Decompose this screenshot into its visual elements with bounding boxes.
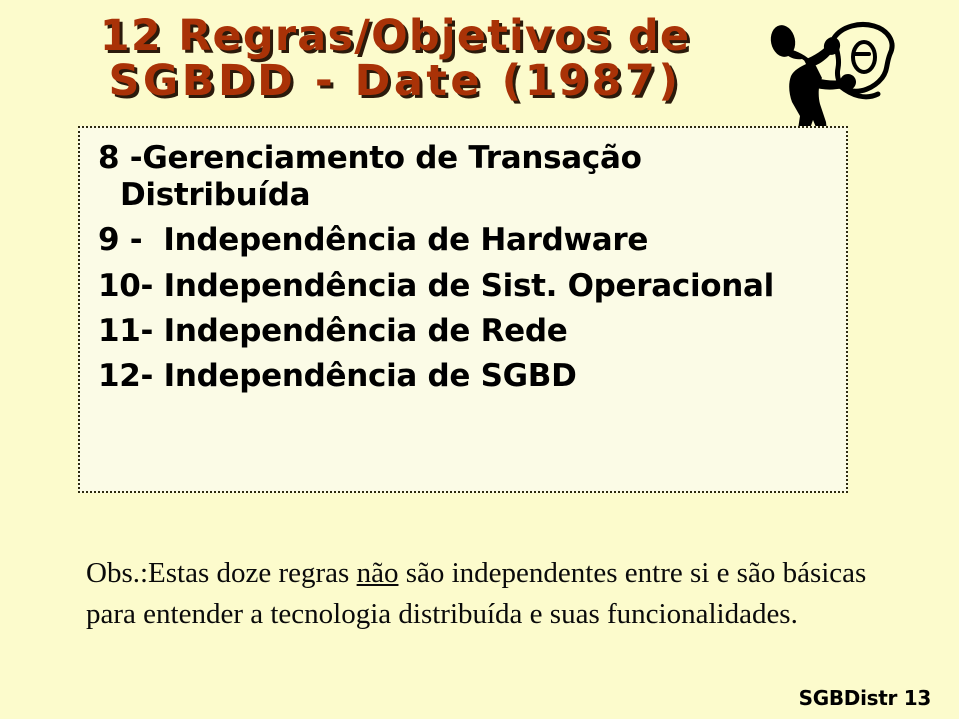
page-title: 12 Regras/Objetivos de SGBDD - Date (198…: [0, 14, 790, 103]
title-line-1: 12 Regras/Objetivos de: [0, 14, 790, 59]
list-item: 11- Independência de Rede: [88, 313, 842, 350]
rules-content-box: 8 -Gerenciamento de TransaçãoDistribuída…: [78, 126, 848, 493]
list-item: 8 -Gerenciamento de TransaçãoDistribuída: [88, 140, 738, 214]
rule-text: Gerenciamento de Transação: [142, 140, 641, 176]
title-line-2: SGBDD - Date (1987): [0, 59, 790, 104]
rules-list: 8 -Gerenciamento de TransaçãoDistribuída…: [88, 140, 842, 395]
observation-emphasis: não: [357, 557, 399, 589]
rule-text: Independência de Hardware: [153, 222, 648, 258]
list-item: 9 - Independência de Hardware: [88, 222, 842, 259]
rule-continuation: Distribuída: [98, 177, 738, 214]
observation-text: Obs.:Estas doze regras não são independe…: [86, 553, 876, 634]
observation-prefix: Obs.:Estas doze regras: [86, 557, 357, 589]
rule-number: 11-: [98, 313, 153, 349]
rule-number: 12-: [98, 358, 153, 394]
slide-footer: SGBDistr 13: [799, 686, 931, 710]
list-item: 10- Independência de Sist. Operacional: [88, 268, 842, 305]
rule-number: 8 -: [98, 140, 142, 176]
rule-text: Independência de Rede: [153, 313, 567, 349]
rule-text: Independência de SGBD: [153, 358, 576, 394]
list-item: 12- Independência de SGBD: [88, 358, 842, 395]
rule-text: Independência de Sist. Operacional: [153, 268, 774, 304]
slide-canvas: 12 Regras/Objetivos de SGBDD - Date (198…: [0, 0, 959, 719]
rule-number: 9 -: [98, 222, 153, 258]
rule-number: 10-: [98, 268, 153, 304]
